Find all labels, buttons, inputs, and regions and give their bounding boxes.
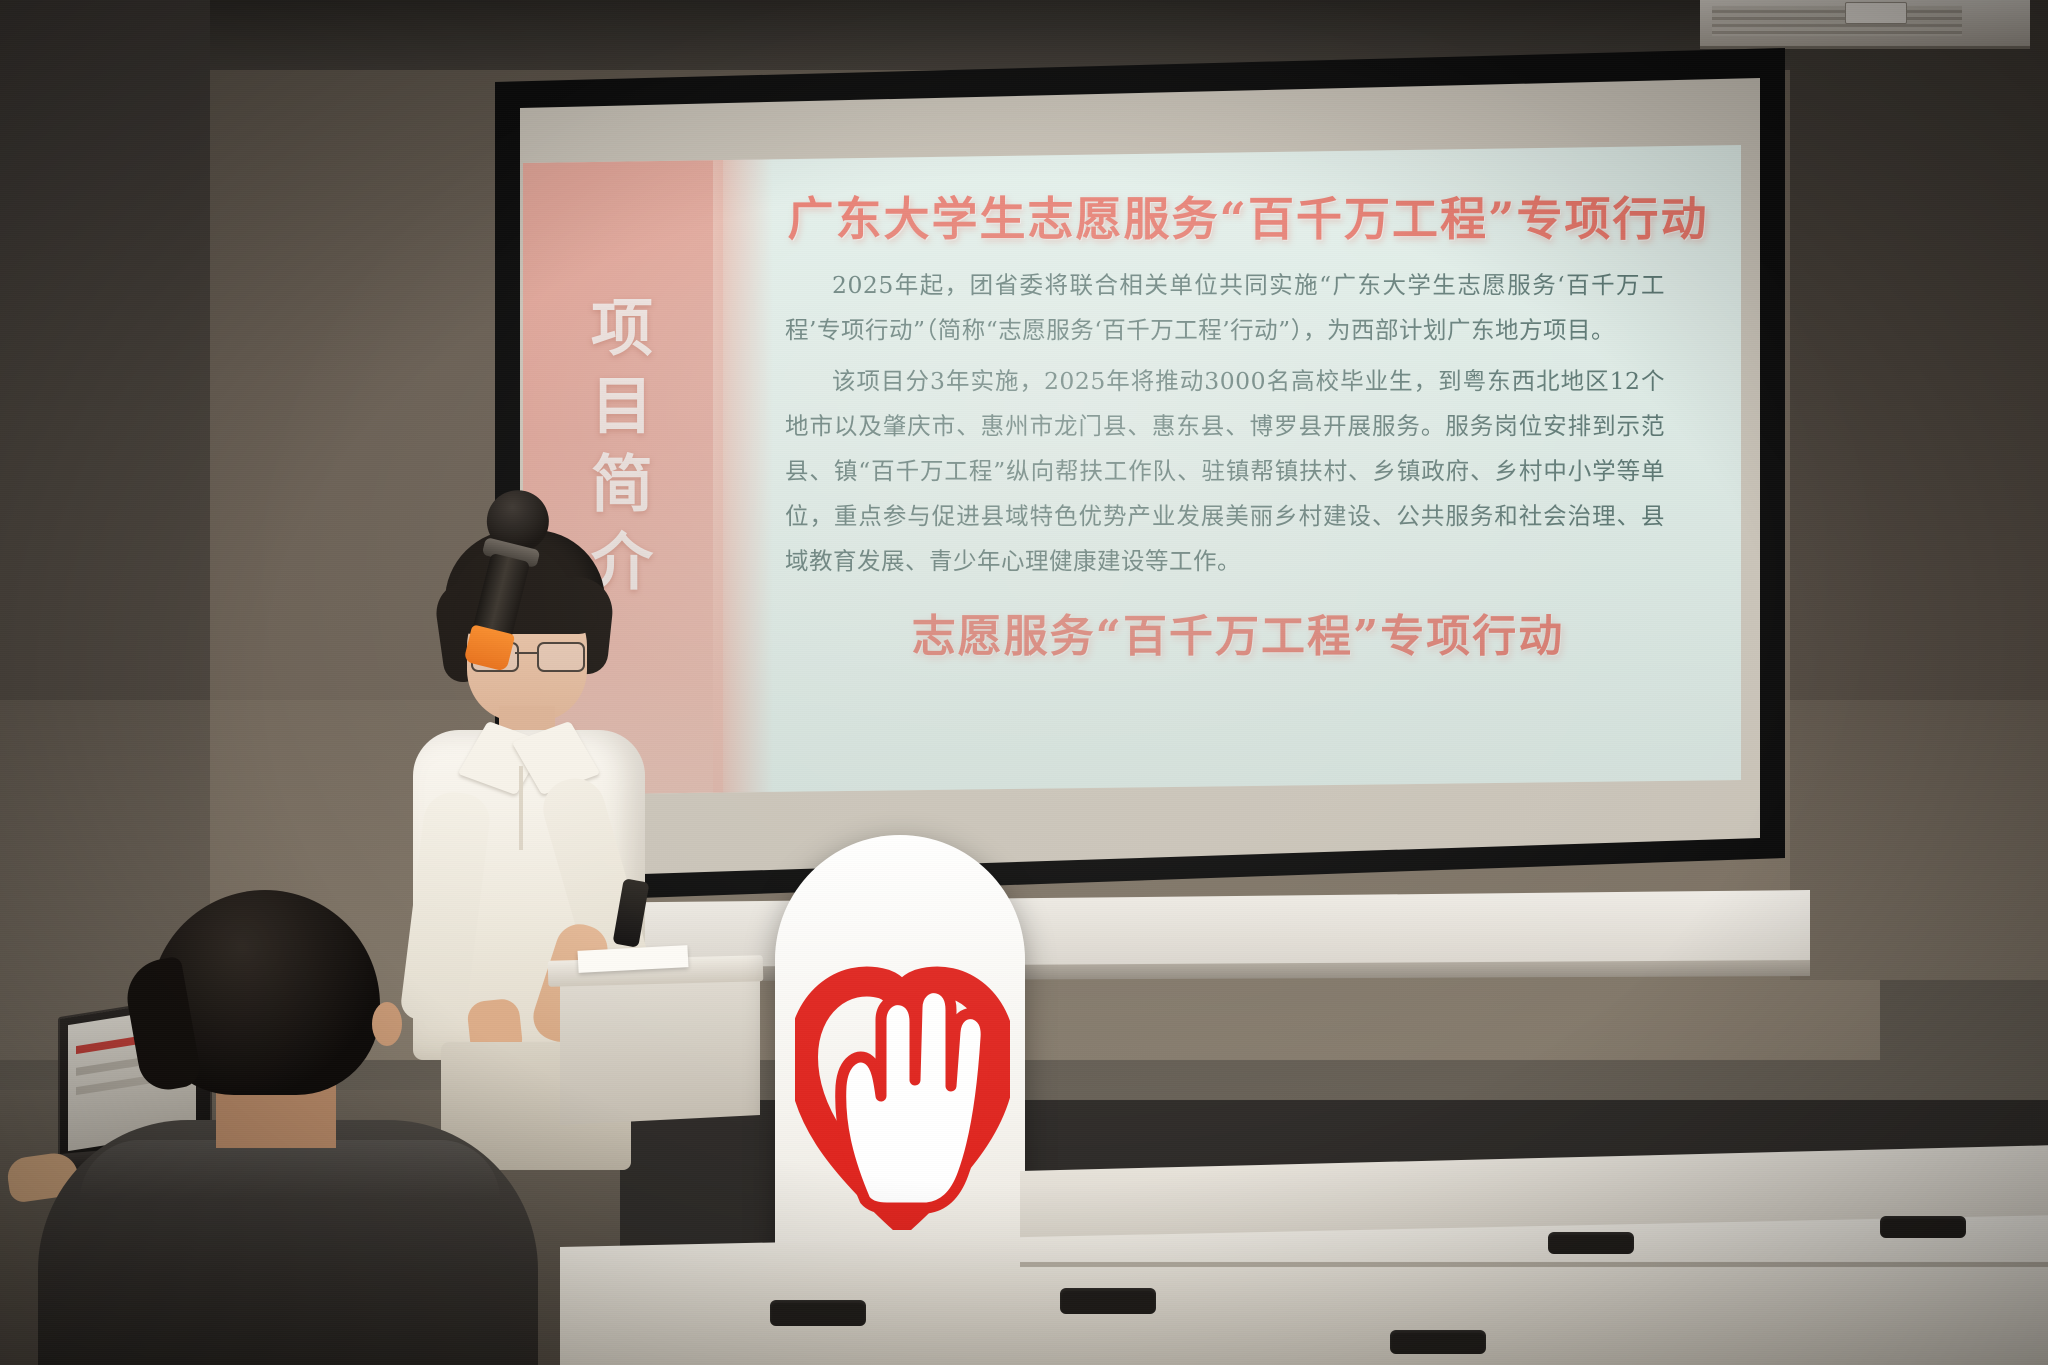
audience-shoulder-highlight <box>80 1140 500 1200</box>
presentation-photo-scene: 项目简介 广东大学生志愿服务“百千万工程”专项行动 2025年起，团省委将联合相… <box>0 0 2048 1365</box>
slide-paragraph-2: 该项目分3年实施，2025年将推动3000名高校毕业生，到粤东西北地区12个地市… <box>785 359 1665 584</box>
presenter-shirt-placket <box>519 766 523 850</box>
slide-footer-headline: 志愿服务“百千万工程”专项行动 <box>773 600 1703 664</box>
desk-cable-grommet <box>1548 1232 1634 1254</box>
desk-cable-grommet <box>1390 1330 1486 1354</box>
desk-edge-line <box>1020 1262 2048 1267</box>
volunteer-heart-hand-logo-icon <box>795 900 1010 1230</box>
desk-cable-grommet <box>1880 1216 1966 1238</box>
desk-cable-grommet <box>1060 1288 1156 1314</box>
audience-ear <box>372 1002 402 1046</box>
audience-member <box>20 890 540 1365</box>
slide-title: 广东大学生志愿服务“百千万工程”专项行动 <box>778 183 1718 249</box>
lectern <box>560 965 760 1125</box>
slide-paragraph-1: 2025年起，团省委将联合相关单位共同实施“广东大学生志愿服务‘百千万工程’专项… <box>785 263 1665 353</box>
slide-body: 2025年起，团省委将联合相关单位共同实施“广东大学生志愿服务‘百千万工程’专项… <box>785 263 1665 590</box>
ac-vent-louvers <box>1712 6 1962 36</box>
slide-band-fade <box>713 145 773 795</box>
ac-control-panel <box>1845 2 1907 24</box>
desk-cable-grommet <box>770 1300 866 1326</box>
projected-slide: 项目简介 广东大学生志愿服务“百千万工程”专项行动 2025年起，团省委将联合相… <box>523 145 1741 795</box>
